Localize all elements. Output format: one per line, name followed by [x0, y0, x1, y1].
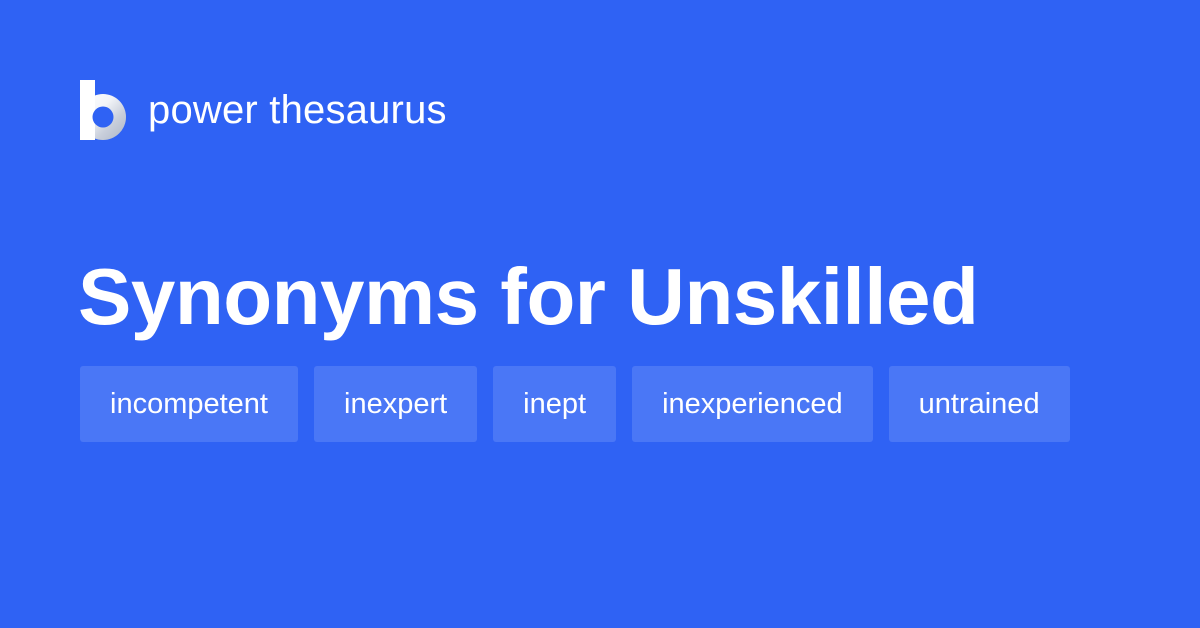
synonym-tag-list: incompetent inexpert inept inexperienced… — [80, 366, 1120, 442]
synonym-tag[interactable]: untrained — [889, 366, 1070, 442]
synonym-tag[interactable]: inexperienced — [632, 366, 873, 442]
power-thesaurus-b-logo-icon — [80, 80, 126, 140]
synonym-tag[interactable]: inexpert — [314, 366, 477, 442]
synonym-tag[interactable]: incompetent — [80, 366, 298, 442]
brand-name: power thesaurus — [148, 90, 447, 130]
synonym-tag[interactable]: inept — [493, 366, 616, 442]
synonyms-share-card: power thesaurus Synonyms for Unskilled i… — [0, 0, 1200, 628]
brand-header[interactable]: power thesaurus — [80, 78, 447, 142]
page-title: Synonyms for Unskilled — [78, 251, 978, 343]
